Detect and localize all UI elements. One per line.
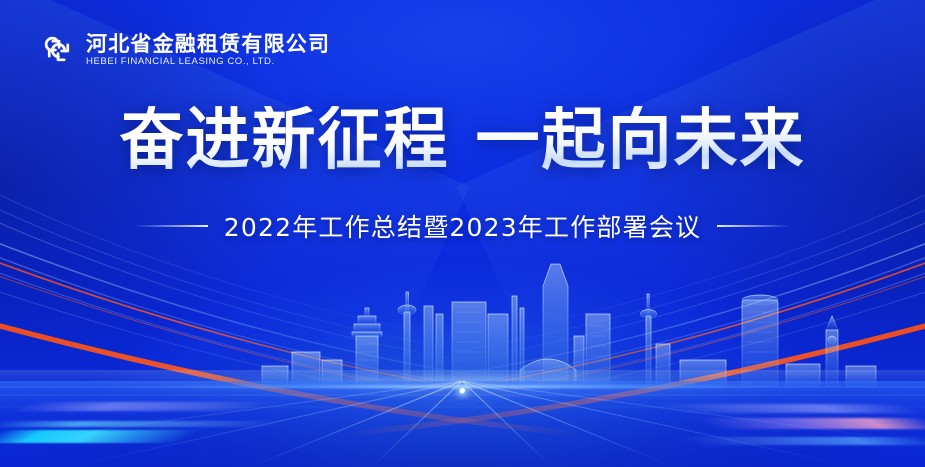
horizon-glow-core <box>143 384 783 389</box>
pagoda-tower <box>352 308 382 387</box>
perspective-ground <box>0 381 925 467</box>
orange-arc-right-thick <box>345 318 925 434</box>
main-title: 奋进新征程一起向未来 <box>120 106 806 174</box>
light-streak-blue-right <box>676 437 925 445</box>
centre-tower <box>543 264 568 387</box>
tv-tower-right <box>641 294 657 387</box>
light-streak-violet-right <box>653 404 925 413</box>
orange-arc-left-thick <box>0 318 580 434</box>
conference-banner: 河北省金融租赁有限公司 HEBEI FINANCIAL LEASING CO.,… <box>0 0 925 467</box>
tapered-rule-right-icon <box>717 225 791 227</box>
main-title-block: 奋进新征程一起向未来 <box>0 108 925 172</box>
main-title-part1: 奋进新征程 <box>120 101 450 179</box>
logo-text-block: 河北省金融租赁有限公司 HEBEI FINANCIAL LEASING CO.,… <box>86 33 330 67</box>
company-name-en: HEBEI FINANCIAL LEASING CO., LTD. <box>86 57 330 67</box>
horizon-glow-wide <box>0 375 925 397</box>
subtitle-block: 2022年工作总结暨2023年工作部署会议 <box>0 208 925 244</box>
light-streak-cyan-left-2 <box>0 421 287 427</box>
light-streak-pink-right <box>695 418 925 429</box>
company-logo: 河北省金融租赁有限公司 HEBEI FINANCIAL LEASING CO.,… <box>42 33 330 67</box>
sparkle-icon <box>460 388 465 393</box>
main-title-part2: 一起向未来 <box>476 101 806 179</box>
city-skyline <box>0 252 925 387</box>
interlocking-knot-logo-icon <box>42 34 75 67</box>
tv-tower-left <box>398 292 416 387</box>
orange-arc-left-thin <box>0 252 545 400</box>
company-name-cn: 河北省金融租赁有限公司 <box>86 33 330 55</box>
tapered-rule-left-icon <box>134 225 208 227</box>
orange-arc-right-thin <box>380 252 925 400</box>
subtitle-text: 2022年工作总结暨2023年工作部署会议 <box>224 208 701 244</box>
light-streak-violet-left <box>8 402 283 411</box>
dome-structure <box>520 359 576 387</box>
cylinder-tower <box>742 295 778 387</box>
light-streak-cyan-left <box>0 430 202 443</box>
clock-tower <box>826 316 838 387</box>
